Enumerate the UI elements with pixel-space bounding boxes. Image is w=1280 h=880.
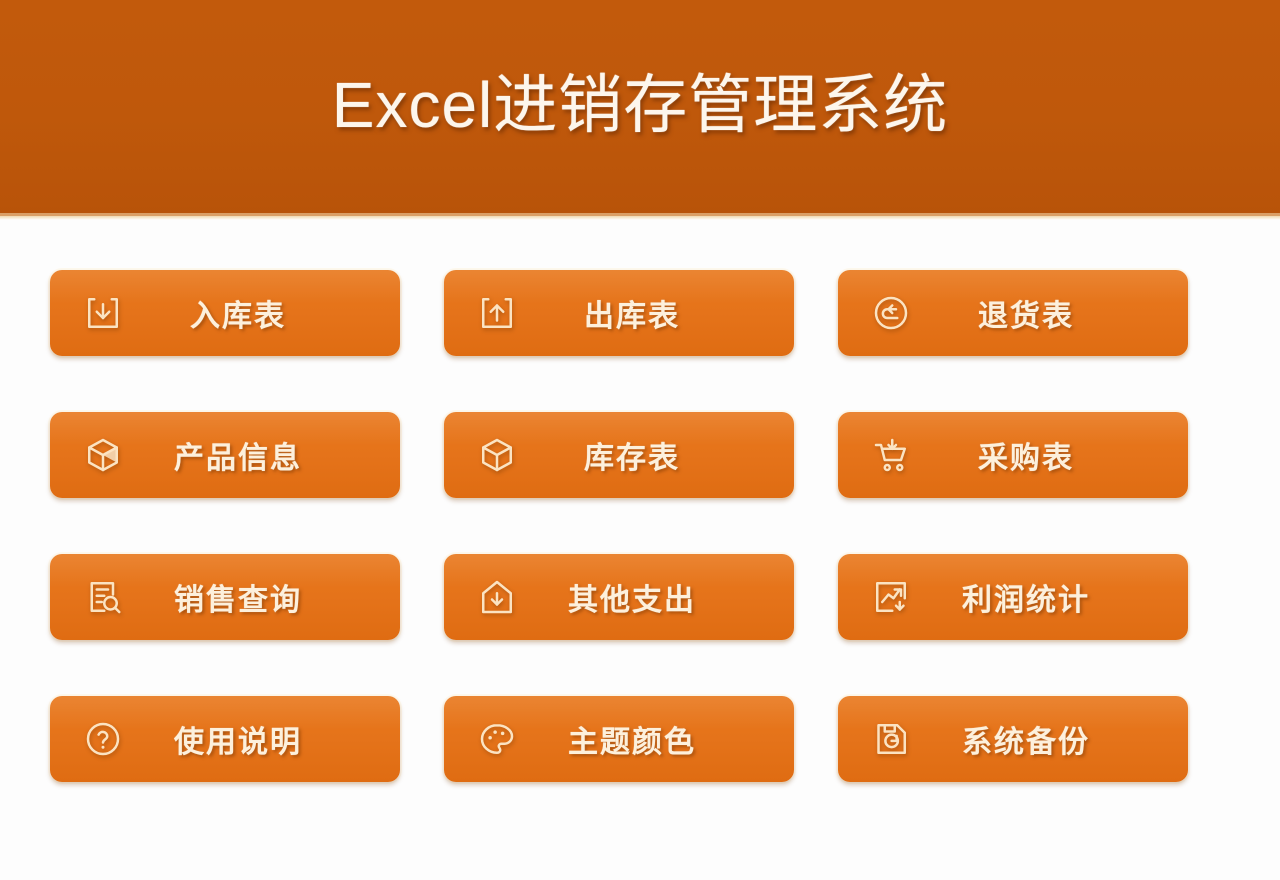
chart-trend-icon — [864, 570, 918, 624]
menu-button-label: 系统备份 — [918, 717, 1188, 761]
menu-button-label: 主题颜色 — [524, 717, 794, 761]
menu-grid: 入库表 出库表 退货表 — [50, 270, 1188, 782]
menu-button-label: 产品信息 — [130, 433, 400, 477]
menu-button-outbound[interactable]: 出库表 — [444, 270, 794, 356]
menu-button-label: 出库表 — [524, 291, 794, 335]
menu-button-inventory[interactable]: 库存表 — [444, 412, 794, 498]
menu-button-label: 入库表 — [130, 291, 400, 335]
menu-button-profit-stats[interactable]: 利润统计 — [838, 554, 1188, 640]
menu-button-instructions[interactable]: 使用说明 — [50, 696, 400, 782]
menu-button-label: 其他支出 — [524, 575, 794, 619]
house-down-arrow-icon — [470, 570, 524, 624]
shopping-cart-icon — [864, 428, 918, 482]
menu-button-label: 采购表 — [918, 433, 1188, 477]
document-search-icon — [76, 570, 130, 624]
export-up-arrow-icon — [470, 286, 524, 340]
menu-button-label: 使用说明 — [130, 717, 400, 761]
menu-button-label: 库存表 — [524, 433, 794, 477]
menu-button-other-expenses[interactable]: 其他支出 — [444, 554, 794, 640]
menu-button-theme-color[interactable]: 主题颜色 — [444, 696, 794, 782]
menu-button-purchase[interactable]: 采购表 — [838, 412, 1188, 498]
backup-save-icon — [864, 712, 918, 766]
menu-button-label: 销售查询 — [130, 575, 400, 619]
menu-button-label: 退货表 — [918, 291, 1188, 335]
return-arrow-circle-icon — [864, 286, 918, 340]
menu-button-product-info[interactable]: 产品信息 — [50, 412, 400, 498]
import-down-arrow-icon — [76, 286, 130, 340]
menu-button-label: 利润统计 — [918, 575, 1188, 619]
menu-button-returns[interactable]: 退货表 — [838, 270, 1188, 356]
palette-icon — [470, 712, 524, 766]
menu-button-inbound[interactable]: 入库表 — [50, 270, 400, 356]
page-title: Excel进销存管理系统 — [332, 73, 949, 143]
question-circle-icon — [76, 712, 130, 766]
header-banner: Excel进销存管理系统 — [0, 0, 1280, 216]
menu-button-system-backup[interactable]: 系统备份 — [838, 696, 1188, 782]
box-filled-icon — [76, 428, 130, 482]
menu-button-sales-query[interactable]: 销售查询 — [50, 554, 400, 640]
app-root: Excel进销存管理系统 入库表 出库表 — [0, 0, 1280, 880]
box-outline-icon — [470, 428, 524, 482]
